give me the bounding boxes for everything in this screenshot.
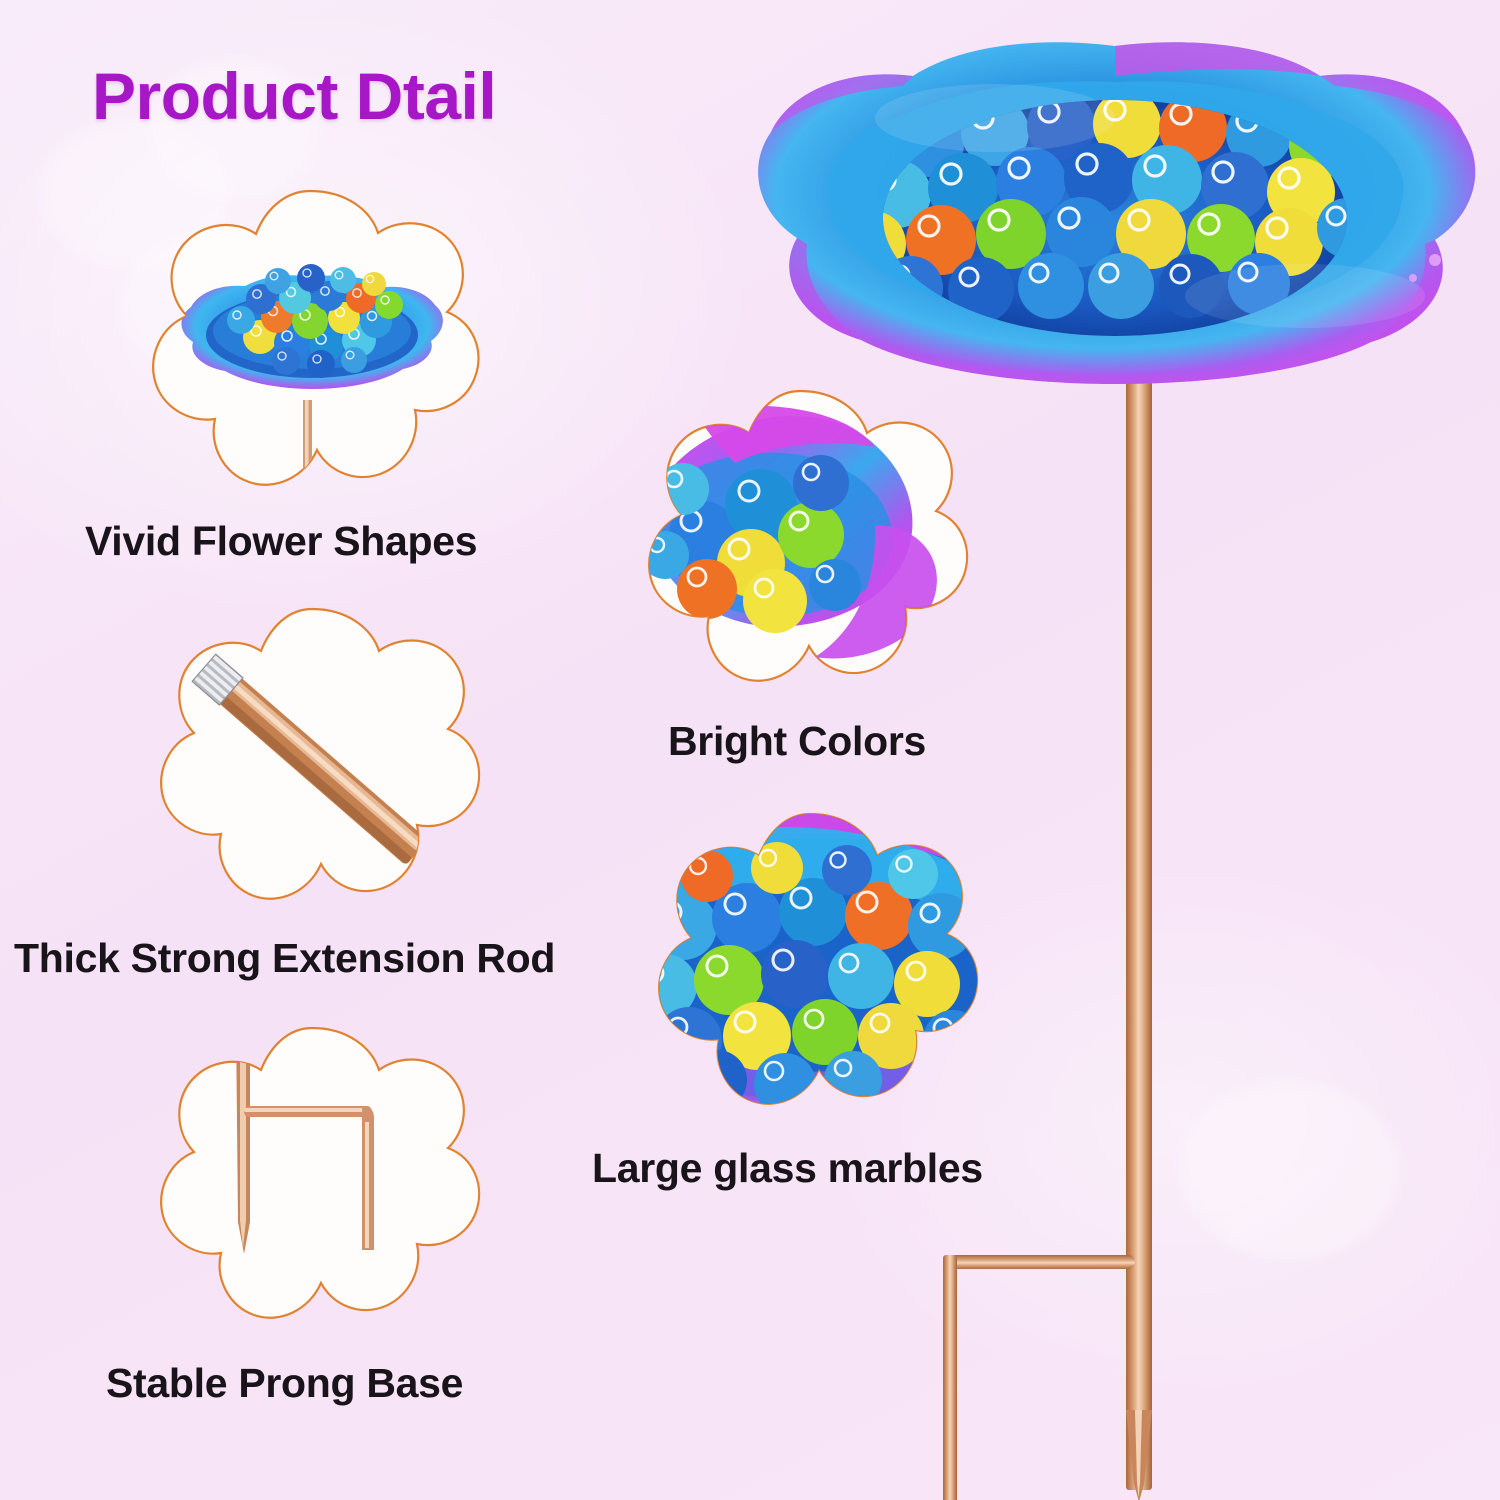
- hero-product: [745, 10, 1500, 1500]
- label-stable-prong-base: Stable Prong Base: [106, 1360, 463, 1407]
- hero-prong-vertical: [943, 1255, 957, 1500]
- hero-flower-bowl: [745, 28, 1485, 398]
- hero-stake-point-icon: [1126, 1410, 1152, 1500]
- hero-prong-horizontal: [943, 1255, 1135, 1269]
- label-thick-strong-extension-rod: Thick Strong Extension Rod: [14, 935, 555, 982]
- callout-vivid-flower-shapes: [135, 185, 485, 515]
- product-detail-canvas: Product Dtail: [0, 0, 1500, 1500]
- page-title: Product Dtail: [92, 58, 496, 134]
- label-vivid-flower-shapes: Vivid Flower Shapes: [85, 518, 477, 565]
- callout-thick-strong-extension-rod: [140, 603, 485, 923]
- hero-stake-pole: [1126, 360, 1152, 1490]
- callout-stable-prong-base: [140, 1022, 485, 1342]
